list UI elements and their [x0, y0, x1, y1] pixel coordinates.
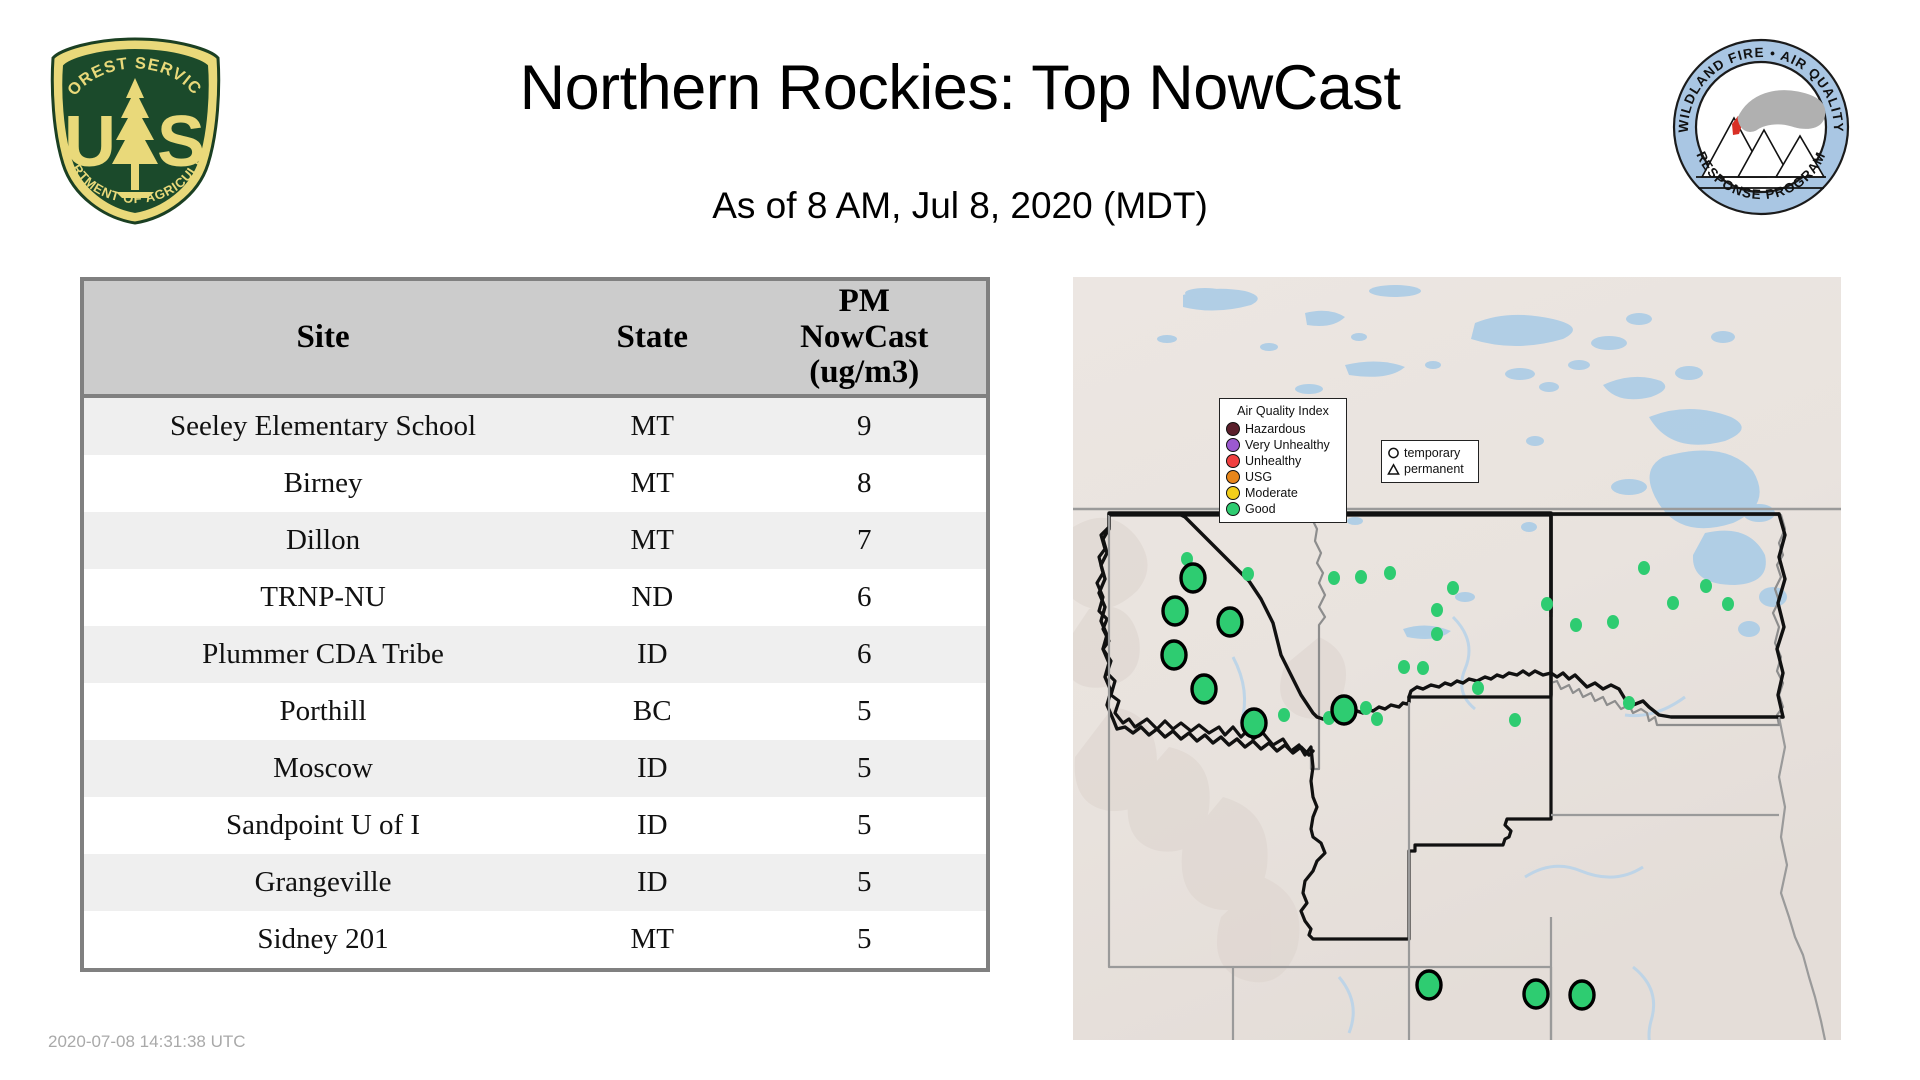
cell-state: MT — [562, 512, 742, 569]
cell-pm: 5 — [742, 854, 986, 911]
table-row: Sandpoint U of I ID 5 — [84, 797, 986, 854]
monitor-marker-small[interactable] — [1570, 618, 1582, 632]
swatch-usg — [1226, 470, 1240, 484]
table-row: Sidney 201 MT 5 — [84, 911, 986, 968]
monitor-marker-large[interactable] — [1163, 597, 1187, 625]
air-quality-index-legend: Air Quality Index Hazardous Very Unhealt… — [1219, 398, 1347, 523]
cell-site: Seeley Elementary School — [84, 396, 562, 455]
air-quality-monitor-map[interactable] — [1073, 277, 1841, 1040]
cell-site: Dillon — [84, 512, 562, 569]
monitor-marker-small[interactable] — [1360, 701, 1372, 715]
cell-site: Grangeville — [84, 854, 562, 911]
cell-state: ND — [562, 569, 742, 626]
top-nowcast-table-container: Site State PM NowCast (ug/m3) Seeley Ele… — [80, 277, 990, 972]
table-header-row: Site State PM NowCast (ug/m3) — [84, 281, 986, 396]
monitor-marker-small[interactable] — [1722, 597, 1734, 611]
map-canvas — [1073, 277, 1841, 1040]
cell-pm: 9 — [742, 396, 986, 455]
monitor-marker-large[interactable] — [1162, 641, 1186, 669]
monitor-marker-small[interactable] — [1623, 696, 1635, 710]
legend-label: USG — [1245, 469, 1272, 485]
table-row: Seeley Elementary School MT 9 — [84, 396, 986, 455]
monitor-marker-small[interactable] — [1607, 615, 1619, 629]
column-header-state: State — [562, 281, 742, 396]
monitor-marker-large[interactable] — [1192, 675, 1216, 703]
monitor-marker-small[interactable] — [1384, 566, 1396, 580]
table-row: Grangeville ID 5 — [84, 854, 986, 911]
table-body: Seeley Elementary School MT 9 Birney MT … — [84, 396, 986, 968]
cell-state: ID — [562, 626, 742, 683]
legend-item-temporary: temporary — [1387, 445, 1473, 461]
table-row: Moscow ID 5 — [84, 740, 986, 797]
map-terrain-background — [1073, 277, 1841, 1040]
generated-timestamp: 2020-07-08 14:31:38 UTC — [48, 1032, 246, 1052]
monitor-marker-small[interactable] — [1242, 567, 1254, 581]
top-nowcast-table: Site State PM NowCast (ug/m3) Seeley Ele… — [84, 281, 986, 968]
monitor-marker-large[interactable] — [1417, 971, 1441, 999]
cell-state: BC — [562, 683, 742, 740]
monitor-marker-small[interactable] — [1638, 561, 1650, 575]
page-title: Northern Rockies: Top NowCast — [0, 52, 1920, 124]
legend-label: Unhealthy — [1245, 453, 1301, 469]
monitor-marker-small[interactable] — [1431, 627, 1443, 641]
monitor-marker-small[interactable] — [1509, 713, 1521, 727]
cell-pm: 8 — [742, 455, 986, 512]
legend-title: Air Quality Index — [1226, 403, 1340, 419]
legend-item-very-unhealthy: Very Unhealthy — [1226, 437, 1340, 453]
monitor-marker-large[interactable] — [1181, 564, 1205, 592]
legend-label: Good — [1245, 501, 1276, 517]
legend-label: permanent — [1404, 461, 1464, 477]
cell-state: MT — [562, 455, 742, 512]
cell-pm: 5 — [742, 911, 986, 968]
legend-item-permanent: permanent — [1387, 461, 1473, 477]
cell-pm: 5 — [742, 740, 986, 797]
monitor-marker-small[interactable] — [1431, 603, 1443, 617]
legend-item-usg: USG — [1226, 469, 1340, 485]
monitor-marker-small[interactable] — [1447, 581, 1459, 595]
column-header-pm-nowcast: PM NowCast (ug/m3) — [742, 281, 986, 396]
triangle-icon — [1387, 463, 1400, 476]
legend-label: Moderate — [1245, 485, 1298, 501]
cell-site: TRNP-NU — [84, 569, 562, 626]
cell-state: MT — [562, 396, 742, 455]
swatch-moderate — [1226, 486, 1240, 500]
cell-site: Birney — [84, 455, 562, 512]
monitor-marker-small[interactable] — [1371, 712, 1383, 726]
table-row: Dillon MT 7 — [84, 512, 986, 569]
monitor-marker-large[interactable] — [1242, 709, 1266, 737]
cell-state: ID — [562, 740, 742, 797]
cell-site: Sidney 201 — [84, 911, 562, 968]
monitor-marker-small[interactable] — [1472, 681, 1484, 695]
swatch-good — [1226, 502, 1240, 516]
monitor-marker-small[interactable] — [1355, 570, 1367, 584]
page-subtitle: As of 8 AM, Jul 8, 2020 (MDT) — [0, 185, 1920, 227]
monitor-marker-large[interactable] — [1332, 696, 1356, 724]
swatch-hazardous — [1226, 422, 1240, 436]
cell-pm: 5 — [742, 683, 986, 740]
monitor-marker-small[interactable] — [1398, 660, 1410, 674]
slide-root: FOREST SERVICE U S DEPARTMENT OF AGRICUL… — [0, 0, 1920, 1080]
table-row: TRNP-NU ND 6 — [84, 569, 986, 626]
swatch-very-unhealthy — [1226, 438, 1240, 452]
cell-pm: 6 — [742, 626, 986, 683]
monitor-marker-large[interactable] — [1570, 981, 1594, 1009]
monitor-marker-small[interactable] — [1278, 708, 1290, 722]
cell-site: Porthill — [84, 683, 562, 740]
table-row: Porthill BC 5 — [84, 683, 986, 740]
table-row: Birney MT 8 — [84, 455, 986, 512]
legend-label: Hazardous — [1245, 421, 1305, 437]
legend-item-good: Good — [1226, 501, 1340, 517]
cell-pm: 7 — [742, 512, 986, 569]
cell-pm: 6 — [742, 569, 986, 626]
cell-state: MT — [562, 911, 742, 968]
cell-pm: 5 — [742, 797, 986, 854]
legend-item-hazardous: Hazardous — [1226, 421, 1340, 437]
legend-label: Very Unhealthy — [1245, 437, 1330, 453]
monitor-marker-small[interactable] — [1328, 571, 1340, 585]
monitor-type-legend: temporary permanent — [1381, 440, 1479, 483]
monitor-marker-small[interactable] — [1700, 579, 1712, 593]
cell-site: Plummer CDA Tribe — [84, 626, 562, 683]
cell-site: Moscow — [84, 740, 562, 797]
legend-item-moderate: Moderate — [1226, 485, 1340, 501]
table-row: Plummer CDA Tribe ID 6 — [84, 626, 986, 683]
swatch-unhealthy — [1226, 454, 1240, 468]
cell-state: ID — [562, 854, 742, 911]
cell-state: ID — [562, 797, 742, 854]
legend-label: temporary — [1404, 445, 1460, 461]
monitor-marker-large[interactable] — [1524, 980, 1548, 1008]
monitor-marker-small[interactable] — [1417, 661, 1429, 675]
monitor-marker-small[interactable] — [1541, 597, 1553, 611]
legend-item-unhealthy: Unhealthy — [1226, 453, 1340, 469]
monitor-marker-large[interactable] — [1218, 608, 1242, 636]
column-header-site: Site — [84, 281, 562, 396]
circle-icon — [1387, 447, 1400, 460]
cell-site: Sandpoint U of I — [84, 797, 562, 854]
monitor-marker-small[interactable] — [1667, 596, 1679, 610]
